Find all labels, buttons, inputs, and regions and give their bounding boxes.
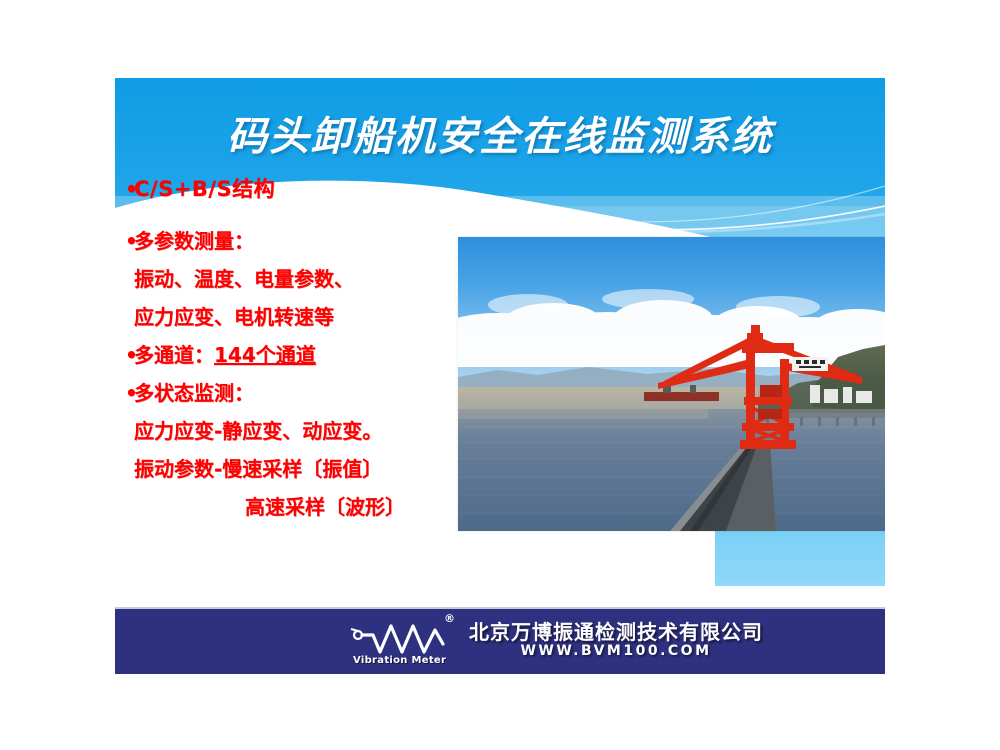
footer-bar: ® Vibration Meter 北京万博振通检测技术有限公司 WWW.BVM… [115, 607, 885, 674]
logo-wordmark: Vibration Meter [353, 655, 446, 666]
slide-canvas: 码头卸船机安全在线监测系统 •C/S+B/S结构 •多参数测量： 振动、温度、电… [0, 0, 1000, 750]
page-title: 码头卸船机安全在线监测系统 [115, 104, 885, 162]
bullet-marker: • [125, 222, 134, 260]
bullet-text: 多通道： [134, 343, 214, 367]
bullet-marker: • [125, 374, 134, 412]
crane-photo-image [458, 237, 885, 531]
footer-content: ® Vibration Meter 北京万博振通检测技术有限公司 WWW.BVM… [347, 612, 763, 668]
channel-count-value: 144个通道 [214, 343, 316, 367]
bullet-text: 振动参数-慢速采样〔振值〕 [134, 457, 382, 481]
bullet-marker: • [125, 170, 134, 208]
bullet-text: C/S+B/S结构 [134, 177, 275, 201]
vibration-meter-logo: ® Vibration Meter [347, 612, 459, 668]
bullet-text: 多状态监测： [134, 381, 254, 405]
bullet-text: 应力应变、电机转速等 [134, 305, 334, 329]
footer-text-block: 北京万博振通检测技术有限公司 WWW.BVM100.COM [469, 622, 763, 659]
bullet-text: 多参数测量： [134, 229, 254, 253]
bullet-text: 振动、温度、电量参数、 [134, 267, 354, 291]
bullet-text: 应力应变-静应变、动应变。 [134, 419, 382, 443]
registered-trademark-icon: ® [444, 613, 455, 624]
content-panel: 码头卸船机安全在线监测系统 •C/S+B/S结构 •多参数测量： 振动、温度、电… [115, 78, 885, 586]
bullet-marker: • [125, 336, 134, 374]
company-url: WWW.BVM100.COM [520, 644, 711, 659]
crane-photo [458, 237, 885, 531]
company-name: 北京万博振通检测技术有限公司 [469, 622, 763, 643]
list-item: •C/S+B/S结构 [125, 170, 525, 208]
bullet-text: 高速采样〔波形〕 [245, 495, 405, 519]
